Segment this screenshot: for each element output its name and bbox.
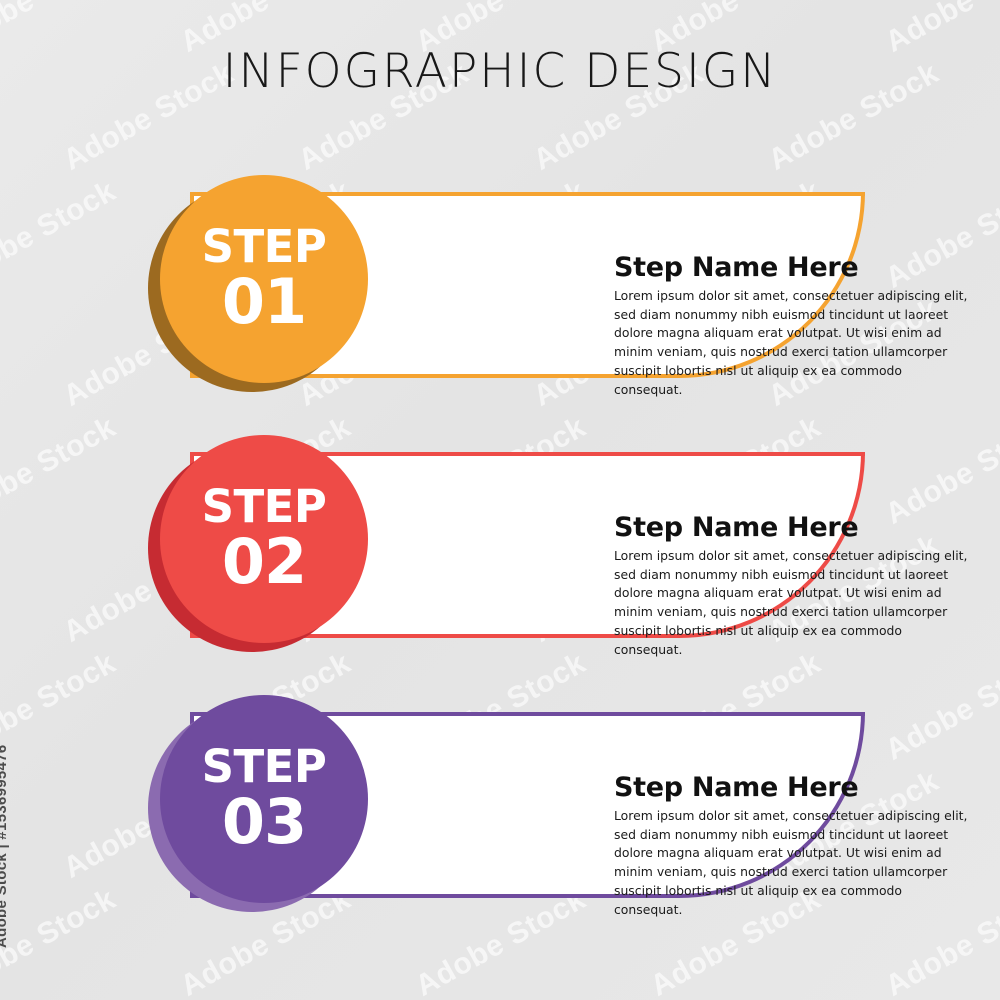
step-title: Step Name Here	[614, 253, 974, 283]
stock-attribution-watermark: Adobe Stock | #1536995476	[0, 745, 10, 948]
step-label: STEP	[202, 225, 327, 269]
step-number: 03	[222, 791, 306, 853]
step-label: STEP	[202, 745, 327, 789]
step-row: Step Name Here Lorem ipsum dolor sit ame…	[0, 690, 1000, 920]
step-row: Step Name Here Lorem ipsum dolor sit ame…	[0, 170, 1000, 400]
step-body: Lorem ipsum dolor sit amet, consectetuer…	[614, 807, 974, 920]
step-card-text: Step Name Here Lorem ipsum dolor sit ame…	[614, 253, 974, 400]
step-circle-badge[interactable]: STEP 03	[160, 695, 368, 903]
infographic-canvas: Adobe StockAdobe StockAdobe StockAdobe S…	[0, 0, 1000, 1000]
step-title: Step Name Here	[614, 513, 974, 543]
page-title: INFOGRAPHIC DESIGN	[0, 44, 1000, 99]
step-circle-badge[interactable]: STEP 02	[160, 435, 368, 643]
step-number: 02	[222, 531, 306, 593]
step-circle-badge[interactable]: STEP 01	[160, 175, 368, 383]
step-card-text: Step Name Here Lorem ipsum dolor sit ame…	[614, 513, 974, 660]
step-card-text: Step Name Here Lorem ipsum dolor sit ame…	[614, 773, 974, 920]
step-body: Lorem ipsum dolor sit amet, consectetuer…	[614, 287, 974, 400]
step-label: STEP	[202, 485, 327, 529]
step-number: 01	[222, 271, 306, 333]
step-body: Lorem ipsum dolor sit amet, consectetuer…	[614, 547, 974, 660]
step-row: Step Name Here Lorem ipsum dolor sit ame…	[0, 430, 1000, 660]
step-title: Step Name Here	[614, 773, 974, 803]
